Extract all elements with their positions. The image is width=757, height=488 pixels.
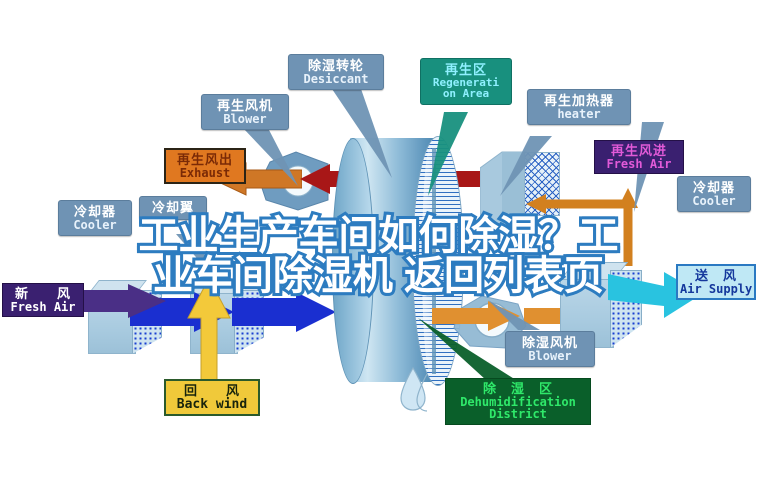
label-regeneration-blower-cn: 再生风机 (204, 99, 286, 113)
label-cooler-right-en: Cooler (680, 195, 748, 208)
label-desiccant-wheel-cn: 除湿转轮 (291, 59, 381, 73)
label-regeneration-air-in-en: Fresh Air (597, 158, 681, 171)
label-cooling-fin[interactable]: 冷却翼 (139, 196, 207, 220)
label-regeneration-air-out-en: Exhaust (168, 167, 242, 180)
label-regeneration-heater-cn: 再生加热器 (530, 94, 628, 108)
label-regeneration-air-in-cn: 再生风进 (597, 144, 681, 158)
label-desiccant-wheel-en: Desiccant (291, 73, 381, 86)
label-desiccant-wheel[interactable]: 除湿转轮 Desiccant (288, 54, 384, 90)
desiccant-wheel-graphic (336, 130, 464, 390)
label-dehumidification-district[interactable]: 除 湿 区 Dehumidification District (445, 378, 591, 425)
label-dehumidification-blower[interactable]: 除湿风机 Blower (505, 331, 595, 367)
label-dehumidification-blower-en: Blower (508, 350, 592, 363)
label-cooler-right[interactable]: 冷却器 Cooler (677, 176, 751, 212)
label-dehumidification-district-cn: 除 湿 区 (448, 382, 588, 396)
label-regeneration-area-en2: on Area (423, 88, 509, 100)
dry-air-arrow (432, 300, 522, 332)
label-back-wind-cn: 回 风 (168, 384, 256, 398)
label-fresh-air-in-cn: 新 风 (5, 287, 81, 301)
label-regeneration-air-out[interactable]: 再生风出 Exhaust (164, 148, 246, 184)
label-air-supply-en: Air Supply (680, 283, 752, 296)
label-cooler-left-en: Cooler (61, 219, 129, 232)
wheel-sector-divider (432, 148, 436, 374)
label-regeneration-heater-en: heater (530, 108, 628, 121)
label-regeneration-area-cn: 再生区 (423, 63, 509, 77)
label-cooler-left-cn: 冷却器 (61, 205, 129, 219)
regen-inlet-arrow (520, 178, 640, 268)
label-regeneration-air-out-cn: 再生风出 (168, 153, 242, 167)
label-back-wind-en: Back wind (168, 398, 256, 412)
label-fresh-air-in-en: Fresh Air (5, 301, 81, 314)
condensate-drop-icon (399, 366, 439, 412)
label-air-supply[interactable]: 送 风 Air Supply (676, 264, 756, 300)
back-wind-arrow (186, 278, 232, 388)
label-regeneration-air-in[interactable]: 再生风进 Fresh Air (594, 140, 684, 174)
label-regeneration-heater[interactable]: 再生加热器 heater (527, 89, 631, 125)
label-regeneration-area[interactable]: 再生区 Regenerati on Area (420, 58, 512, 105)
label-dehumidification-district-en2: District (448, 408, 588, 421)
label-back-wind[interactable]: 回 风 Back wind (164, 379, 260, 416)
fresh-air-arrow (82, 282, 172, 322)
label-regeneration-blower[interactable]: 再生风机 Blower (201, 94, 289, 130)
label-cooling-fin-cn: 冷却翼 (142, 201, 204, 215)
label-air-supply-cn: 送 风 (680, 269, 752, 283)
label-regeneration-blower-en: Blower (204, 113, 286, 126)
wheel-back-rim (332, 138, 374, 384)
label-cooler-left[interactable]: 冷却器 Cooler (58, 200, 132, 236)
label-cooler-right-cn: 冷却器 (680, 181, 748, 195)
label-fresh-air-in[interactable]: 新 风 Fresh Air (2, 283, 84, 317)
diagram-canvas: 除湿转轮 Desiccant 再生风机 Blower 再生区 Regenerat… (0, 0, 757, 488)
label-dehumidification-blower-cn: 除湿风机 (508, 336, 592, 350)
